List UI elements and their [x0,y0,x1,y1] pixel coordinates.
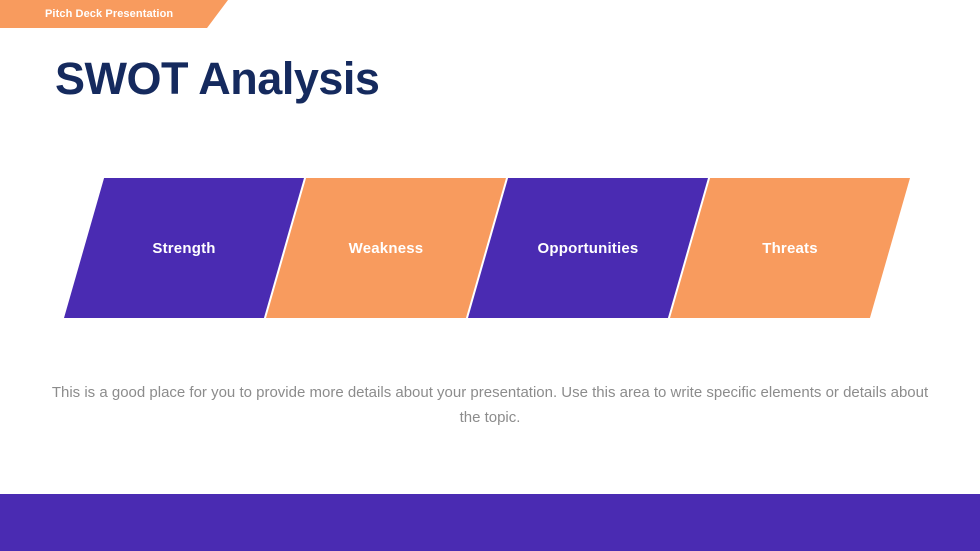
swot-card-strength[interactable]: Strength [64,178,304,318]
slide-swot-analysis: Pitch Deck Presentation SWOT Analysis St… [0,0,980,551]
swot-card-label: Opportunities [538,240,639,257]
swot-card-threats[interactable]: Threats [670,178,910,318]
swot-card-label: Weakness [349,240,424,257]
swot-card-label: Strength [152,240,215,257]
body-paragraph: This is a good place for you to provide … [50,380,930,430]
swot-card-label: Threats [762,240,818,257]
footer-accent-bar [0,494,980,551]
swot-card-row: Strength Weakness Opportunities Threats [0,178,980,318]
swot-card-weakness[interactable]: Weakness [266,178,506,318]
swot-card-opportunities[interactable]: Opportunities [468,178,708,318]
page-title: SWOT Analysis [55,50,379,108]
pitch-deck-banner-label: Pitch Deck Presentation [45,0,173,28]
